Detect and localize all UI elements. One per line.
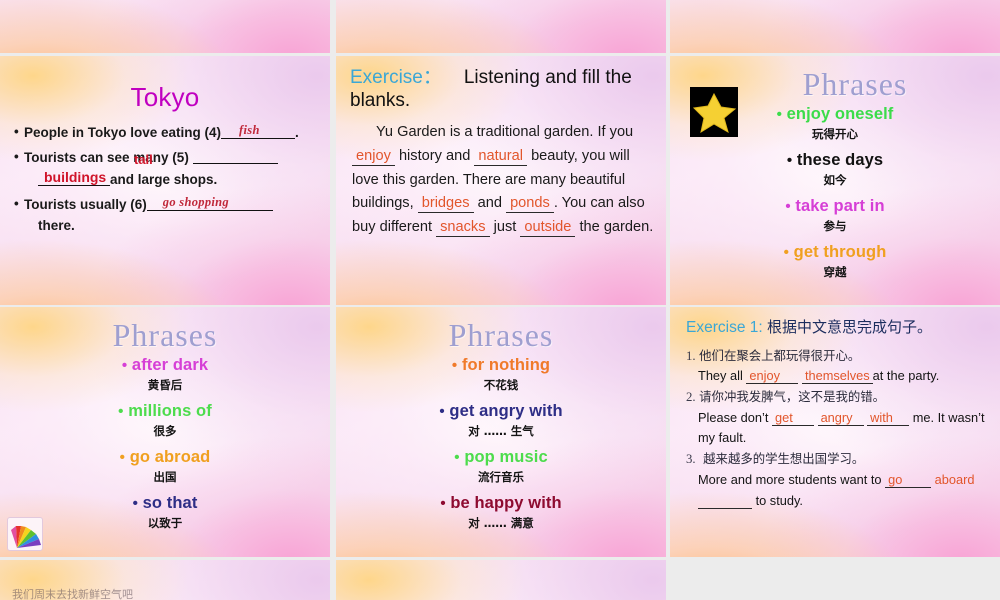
- para-text: just: [490, 219, 521, 235]
- answer-fill: bridges: [418, 195, 474, 213]
- exercise-heading-cn: 根据中文意思完成句子。: [767, 318, 932, 336]
- question-cn: 他们在聚会上都玩得很开心。: [699, 348, 860, 363]
- phrase-cn: 如今: [670, 172, 1000, 188]
- exercise-label: Exercise 1:: [686, 319, 763, 336]
- para-text: history and: [395, 148, 475, 164]
- slide-exercise-listening[interactable]: Exercise：Listening and fill the blanks. …: [336, 56, 666, 305]
- phrase-cn: 参与: [670, 218, 1000, 234]
- slide-phrases-3[interactable]: Phrases • for nothing 不花钱 • get angry wi…: [336, 307, 666, 557]
- bullet-text: Tourists usually (6): [24, 197, 147, 212]
- page-title: Tokyo: [0, 56, 330, 113]
- answer-fill: outside: [520, 219, 575, 237]
- star-icon: [690, 87, 738, 137]
- list-item: 3. 越来越多的学生想出国学习。 More and more students …: [686, 449, 990, 511]
- para-text: and: [474, 195, 506, 211]
- para-text: the garden.: [575, 219, 653, 235]
- answer-blank: fish: [221, 123, 295, 139]
- slide-exercise-1[interactable]: Exercise 1: 根据中文意思完成句子。 1. 他们在聚会上都玩得很开心。…: [670, 307, 1000, 557]
- question-cn: 越来越多的学生想出国学习。: [699, 451, 864, 466]
- answer-fill: snacks: [436, 219, 489, 237]
- bullet-text: Tourists can see many (5): [24, 150, 189, 165]
- list-item: • take part in 参与: [670, 197, 1000, 234]
- phrase-en: • for nothing: [336, 356, 666, 375]
- slide-grid: Tokyo People in Tokyo love eating (4)fis…: [0, 0, 1000, 600]
- slide-phrases-2[interactable]: Phrases • after dark 黄昏后 • millions of 很…: [0, 307, 330, 557]
- answer-fill: with: [867, 411, 909, 426]
- phrase-cn: 穿越: [670, 264, 1000, 280]
- list-item: 1. 他们在聚会上都玩得很开心。 They all enjoy themselv…: [686, 346, 990, 387]
- question-en: Please don’t get angry with me. It wasn’…: [698, 408, 990, 449]
- page-title: Exercise 1: 根据中文意思完成句子。: [670, 307, 1000, 338]
- partial-slide-text: 我们周末去找新鲜空气吧: [12, 586, 133, 600]
- slide-thumbnail-top-middle[interactable]: [336, 0, 666, 53]
- answer-fill: get: [772, 411, 814, 426]
- phrase-cn: 流行音乐: [336, 469, 666, 485]
- slide-phrases-1[interactable]: Phrases • enjoy oneself 玩得开心 • these day…: [670, 56, 1000, 305]
- phrase-cn: 黄昏后: [0, 377, 330, 393]
- answer-fill: ponds: [506, 195, 554, 213]
- bullet-text: People in Tokyo love eating (4): [24, 125, 221, 140]
- bullet-suffix: there.: [38, 218, 75, 233]
- answer-fill: enjoy: [352, 148, 395, 166]
- list-item: • these days 如今: [670, 151, 1000, 188]
- phrase-en: • get angry with: [336, 402, 666, 421]
- question-en-continuation: to study.: [698, 491, 990, 512]
- phrase-list: • after dark 黄昏后 • millions of 很多 • go a…: [0, 356, 330, 531]
- slide-thumbnail-bottom-left[interactable]: 我们周末去找新鲜空气吧: [0, 560, 330, 600]
- slide-thumbnail-top-left[interactable]: [0, 0, 330, 53]
- list-item: Tourists usually (6)go shopping there.: [14, 195, 322, 237]
- phrase-cn: 以致于: [0, 515, 330, 531]
- phrase-en: • so that: [0, 494, 330, 513]
- overlay-annotation: tall: [134, 150, 153, 170]
- answer-handwriting: buildings: [44, 167, 106, 189]
- list-item: • after dark 黄昏后: [0, 356, 330, 393]
- bullet-suffix: .: [295, 125, 299, 140]
- answer-blank: [193, 148, 278, 164]
- page-title: Phrases: [336, 307, 666, 354]
- phrase-en: • after dark: [0, 356, 330, 375]
- question-cn: 请你冲我发脾气，这不是我的错。: [699, 389, 885, 404]
- list-item: • go abroad 出国: [0, 448, 330, 485]
- slide-thumbnail-top-right[interactable]: [670, 0, 1000, 53]
- list-item: 2. 请你冲我发脾气，这不是我的错。 Please don’t get angr…: [686, 387, 990, 449]
- slide-thumbnail-bottom-middle[interactable]: [336, 560, 666, 600]
- answer-fill: themselves: [802, 369, 873, 384]
- list-item: • millions of 很多: [0, 402, 330, 439]
- phrase-cn: 对 …… 满意: [336, 515, 666, 531]
- exercise-label: Exercise：: [350, 67, 442, 88]
- answer-fill-extra: aboard: [935, 472, 975, 487]
- list-item: • for nothing 不花钱: [336, 356, 666, 393]
- phrase-en: • pop music: [336, 448, 666, 467]
- question-list: 1. 他们在聚会上都玩得很开心。 They all enjoy themselv…: [686, 346, 990, 512]
- bullet-continuation: buildingsand large shops.: [24, 170, 322, 191]
- answer-blank: go shopping: [147, 195, 273, 211]
- list-item: • get angry with 对 …… 生气: [336, 402, 666, 439]
- page-title: Exercise：Listening and fill the blanks.: [336, 56, 666, 112]
- list-item: • pop music 流行音乐: [336, 448, 666, 485]
- answer-fill: enjoy: [746, 369, 798, 384]
- phrase-en: • be happy with: [336, 494, 666, 513]
- phrase-cn: 对 …… 生气: [336, 423, 666, 439]
- list-item: • so that 以致于: [0, 494, 330, 531]
- phrase-en: • go abroad: [0, 448, 330, 467]
- phrase-en: • take part in: [670, 197, 1000, 216]
- answer-blank: buildings: [38, 170, 110, 186]
- question-en: They all enjoy themselvesat the party.: [698, 366, 990, 387]
- list-item: Tourists can see many (5) tall buildings…: [14, 148, 322, 191]
- list-item: • be happy with 对 …… 满意: [336, 494, 666, 531]
- bullet-text-wrap: Tourists can see many (5) tall: [24, 150, 193, 165]
- exercise-paragraph: Yu Garden is a traditional garden. If yo…: [352, 121, 654, 239]
- list-item: • get through 穿越: [670, 243, 1000, 280]
- answer-fill: angry: [818, 411, 864, 426]
- answer-blank: [698, 494, 752, 509]
- page-title: Phrases: [0, 307, 330, 354]
- phrase-list: • for nothing 不花钱 • get angry with 对 …… …: [336, 356, 666, 531]
- phrase-cn: 不花钱: [336, 377, 666, 393]
- phrase-en: • these days: [670, 151, 1000, 170]
- phrase-en: • millions of: [0, 402, 330, 421]
- answer-handwriting: fish: [239, 121, 260, 140]
- para-text: Yu Garden is a traditional garden. If yo…: [376, 124, 633, 140]
- question-en: More and more students want to go aboard…: [698, 470, 990, 511]
- bullet-suffix: and large shops.: [110, 172, 217, 187]
- phrase-cn: 很多: [0, 423, 330, 439]
- phrase-en: • get through: [670, 243, 1000, 262]
- answer-handwriting: go shopping: [163, 193, 229, 212]
- bullet-continuation: there.: [24, 216, 322, 237]
- answer-fill: natural: [474, 148, 527, 166]
- list-item: People in Tokyo love eating (4)fish.: [14, 123, 322, 144]
- slide-tokyo[interactable]: Tokyo People in Tokyo love eating (4)fis…: [0, 56, 330, 305]
- rainbow-fan-logo-icon: [7, 517, 43, 551]
- phrase-cn: 出国: [0, 469, 330, 485]
- answer-fill: go: [885, 473, 931, 488]
- tokyo-bullet-list: People in Tokyo love eating (4)fish. Tou…: [14, 123, 322, 237]
